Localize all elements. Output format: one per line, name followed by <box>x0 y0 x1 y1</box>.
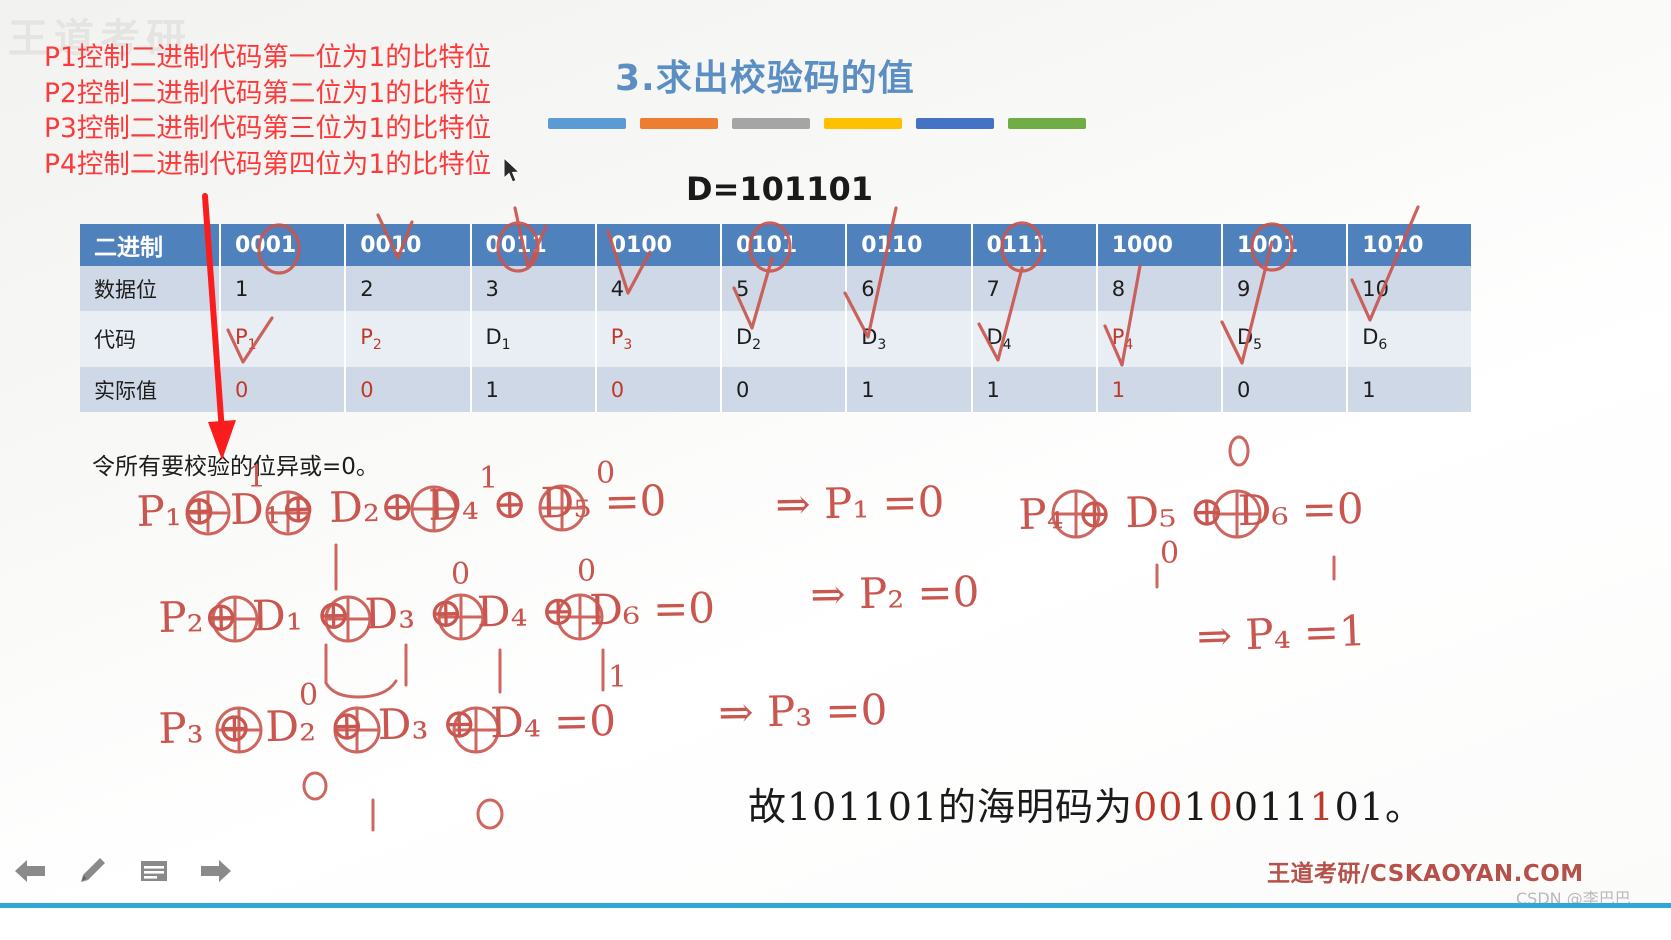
pencil-icon <box>77 856 107 886</box>
position-cell-4: 4 <box>596 266 721 311</box>
position-cell-5: 5 <box>721 266 846 311</box>
code-cell-5: D2 <box>721 311 846 367</box>
hw-eq1-bit-2: 0 <box>596 456 615 491</box>
hamming-digit-3: 1 <box>1183 785 1208 829</box>
row-label-position: 数据位 <box>80 266 220 311</box>
parity-rule-line-1: P1控制二进制代码第一位为1的比特位 <box>44 40 491 76</box>
code-base-9: D <box>1237 325 1253 349</box>
code-cell-8: P4 <box>1097 311 1222 367</box>
code-base-3: D <box>486 325 502 349</box>
title-bar-6 <box>1008 118 1086 129</box>
hamming-digit-10: 1 <box>1360 785 1385 829</box>
binary-cell-10: 1010 <box>1347 224 1471 266</box>
position-cell-1: 1 <box>220 266 345 311</box>
code-sub-5: 2 <box>752 337 761 353</box>
conclusion-line: 故101101的海明码为0010011101。 <box>748 776 1424 831</box>
actual-value-cell-3: 1 <box>471 367 596 412</box>
actual-value-cell-7: 1 <box>972 367 1097 412</box>
title-bar-3 <box>732 118 810 129</box>
code-sub-3: 1 <box>502 337 511 353</box>
table-row-actual-value: 实际值 0 0 1 0 0 1 1 1 0 1 <box>80 367 1471 412</box>
code-base-2: P <box>360 325 373 349</box>
binary-cell-2: 0010 <box>345 224 470 266</box>
binary-cell-1: 0001 <box>220 224 345 266</box>
ink-bit-zero-c <box>1230 437 1248 465</box>
hw-eq3-result: ⇒ P₃ =0 <box>718 685 888 737</box>
title-bar-5 <box>916 118 994 129</box>
actual-value-cell-10: 1 <box>1347 367 1471 412</box>
code-base-7: D <box>987 325 1003 349</box>
binary-cell-4: 0100 <box>596 224 721 266</box>
binary-cell-8: 1000 <box>1097 224 1222 266</box>
code-base-6: D <box>861 325 877 349</box>
hamming-digit-7: 1 <box>1284 785 1309 829</box>
player-toolbar <box>0 838 1671 904</box>
hw-eq2-result: ⇒ P₂ =0 <box>810 567 980 619</box>
position-cell-8: 8 <box>1097 266 1222 311</box>
hw-eq3: P₃ ⊕ D₂ ⊕ D₃ ⊕ D₄ =0 <box>158 696 616 753</box>
hamming-digit-1: 0 <box>1133 785 1158 829</box>
title-bar-4 <box>824 118 902 129</box>
table-row-code: 代码 P1 P2 D1 P3 D2 D3 D4 P4 D5 D6 <box>80 311 1471 367</box>
code-sub-6: 3 <box>877 337 886 353</box>
hamming-digit-8: 1 <box>1309 785 1334 829</box>
parity-rule-line-4: P4控制二进制代码第四位为1的比特位 <box>44 147 491 183</box>
position-cell-9: 9 <box>1222 266 1347 311</box>
hw-eq1-result: ⇒ P₁ =0 <box>775 477 945 529</box>
slide-canvas: 王道考研 P1控制二进制代码第一位为1的比特位 P2控制二进制代码第二位为1的比… <box>0 0 1671 905</box>
actual-value-cell-1: 0 <box>220 367 345 412</box>
title-bar-1 <box>548 118 626 129</box>
hamming-digit-6: 1 <box>1259 785 1284 829</box>
table-row-binary: 二进制 0001 0010 0011 0100 0101 0110 0111 1… <box>80 224 1471 266</box>
code-sub-2: 2 <box>373 337 382 353</box>
hw-eq1: P₁⊕ D₁⊕ D₂⊕ D₄ ⊕ D₅ =0 <box>136 476 667 536</box>
position-cell-3: 3 <box>471 266 596 311</box>
parity-rule-notes: P1控制二进制代码第一位为1的比特位 P2控制二进制代码第二位为1的比特位 P3… <box>44 40 491 182</box>
code-sub-9: 5 <box>1253 337 1262 353</box>
hamming-digit-4: 0 <box>1209 785 1234 829</box>
code-cell-9: D5 <box>1222 311 1347 367</box>
code-sub-1: 1 <box>248 337 257 353</box>
xor-rule-note: 令所有要校验的位异或=0。 <box>92 447 379 481</box>
code-base-1: P <box>235 325 248 349</box>
binary-cell-6: 0110 <box>846 224 971 266</box>
code-sub-8: 4 <box>1124 337 1133 353</box>
parity-rule-line-2: P2控制二进制代码第二位为1的比特位 <box>44 76 491 112</box>
title-bar-2 <box>640 118 718 129</box>
binary-cell-3: 0011 <box>471 224 596 266</box>
code-sub-7: 4 <box>1003 337 1012 353</box>
code-sub-10: 6 <box>1378 337 1387 353</box>
conclusion-suffix: 。 <box>1385 785 1424 829</box>
ink-tally-3 <box>326 645 396 697</box>
title-decoration-bars <box>548 118 1086 129</box>
hw-eq3-bit-1: 0 <box>299 678 318 713</box>
hw-eq2: P₂⊕ D₁ ⊕ D₃ ⊕ D₄ ⊕ D₆ =0 <box>158 583 715 642</box>
notes-button[interactable] <box>134 854 174 888</box>
code-cell-10: D6 <box>1347 311 1471 367</box>
hw-eq4-result: ⇒ P₄ =1 <box>1196 606 1367 661</box>
page-title: 3.求出校验码的值 <box>615 49 915 101</box>
table-row-position: 数据位 1 2 3 4 5 6 7 8 9 10 <box>80 266 1471 311</box>
code-cell-2: P2 <box>345 311 470 367</box>
hamming-digit-5: 0 <box>1234 785 1259 829</box>
binary-cell-9: 1001 <box>1222 224 1347 266</box>
actual-value-cell-9: 0 <box>1222 367 1347 412</box>
position-cell-10: 10 <box>1347 266 1471 311</box>
right-arrow-icon <box>199 858 233 884</box>
hamming-code-table: 二进制 0001 0010 0011 0100 0101 0110 0111 1… <box>80 224 1471 412</box>
mouse-cursor-icon <box>503 157 523 185</box>
hw-eq3-bit-2: 1 <box>608 660 627 695</box>
position-cell-7: 7 <box>972 266 1097 311</box>
data-word-label: D=101101 <box>686 170 873 208</box>
parity-rule-line-3: P3控制二进制代码第三位为1的比特位 <box>44 111 491 147</box>
hw-eq2-bit-2: 0 <box>577 554 596 589</box>
actual-value-cell-4: 0 <box>596 367 721 412</box>
code-cell-4: P3 <box>596 311 721 367</box>
left-arrow-icon <box>13 858 47 884</box>
position-cell-6: 6 <box>846 266 971 311</box>
actual-value-cell-8: 1 <box>1097 367 1222 412</box>
ink-bit-zero-a <box>304 773 326 799</box>
hw-eq2-bit-1: 0 <box>451 557 470 592</box>
hw-eq4: P₄ ⊕ D₅ ⊕ D₆ =0 <box>1018 484 1364 539</box>
code-cell-1: P1 <box>220 311 345 367</box>
code-base-4: P <box>611 325 624 349</box>
actual-value-cell-2: 0 <box>345 367 470 412</box>
hw-eq1-bit-1: 1 <box>247 460 266 495</box>
row-label-code: 代码 <box>80 311 220 367</box>
position-cell-2: 2 <box>345 266 470 311</box>
hw-eq4-bit-1: 0 <box>1160 536 1179 571</box>
next-slide-button[interactable] <box>196 854 236 888</box>
hamming-digit-2: 0 <box>1158 785 1183 829</box>
code-cell-3: D1 <box>471 311 596 367</box>
ink-bit-zero-b <box>478 800 502 828</box>
prev-slide-button[interactable] <box>10 854 50 888</box>
code-cell-7: D4 <box>972 311 1097 367</box>
row-label-actual-value: 实际值 <box>80 367 220 412</box>
code-base-10: D <box>1362 325 1378 349</box>
actual-value-cell-6: 1 <box>846 367 971 412</box>
pen-tool-button[interactable] <box>72 854 112 888</box>
status-bar <box>0 903 1671 908</box>
code-sub-4: 3 <box>623 337 632 353</box>
binary-cell-5: 0101 <box>721 224 846 266</box>
hamming-digit-9: 0 <box>1335 785 1360 829</box>
code-cell-6: D3 <box>846 311 971 367</box>
binary-cell-7: 0111 <box>972 224 1097 266</box>
conclusion-prefix: 故101101的海明码为 <box>748 785 1133 829</box>
notes-icon <box>140 859 168 883</box>
row-label-binary: 二进制 <box>80 224 220 266</box>
code-base-8: P <box>1112 325 1125 349</box>
code-base-5: D <box>736 325 752 349</box>
actual-value-cell-5: 0 <box>721 367 846 412</box>
hw-eq1-bit-3: 1 <box>479 461 498 496</box>
